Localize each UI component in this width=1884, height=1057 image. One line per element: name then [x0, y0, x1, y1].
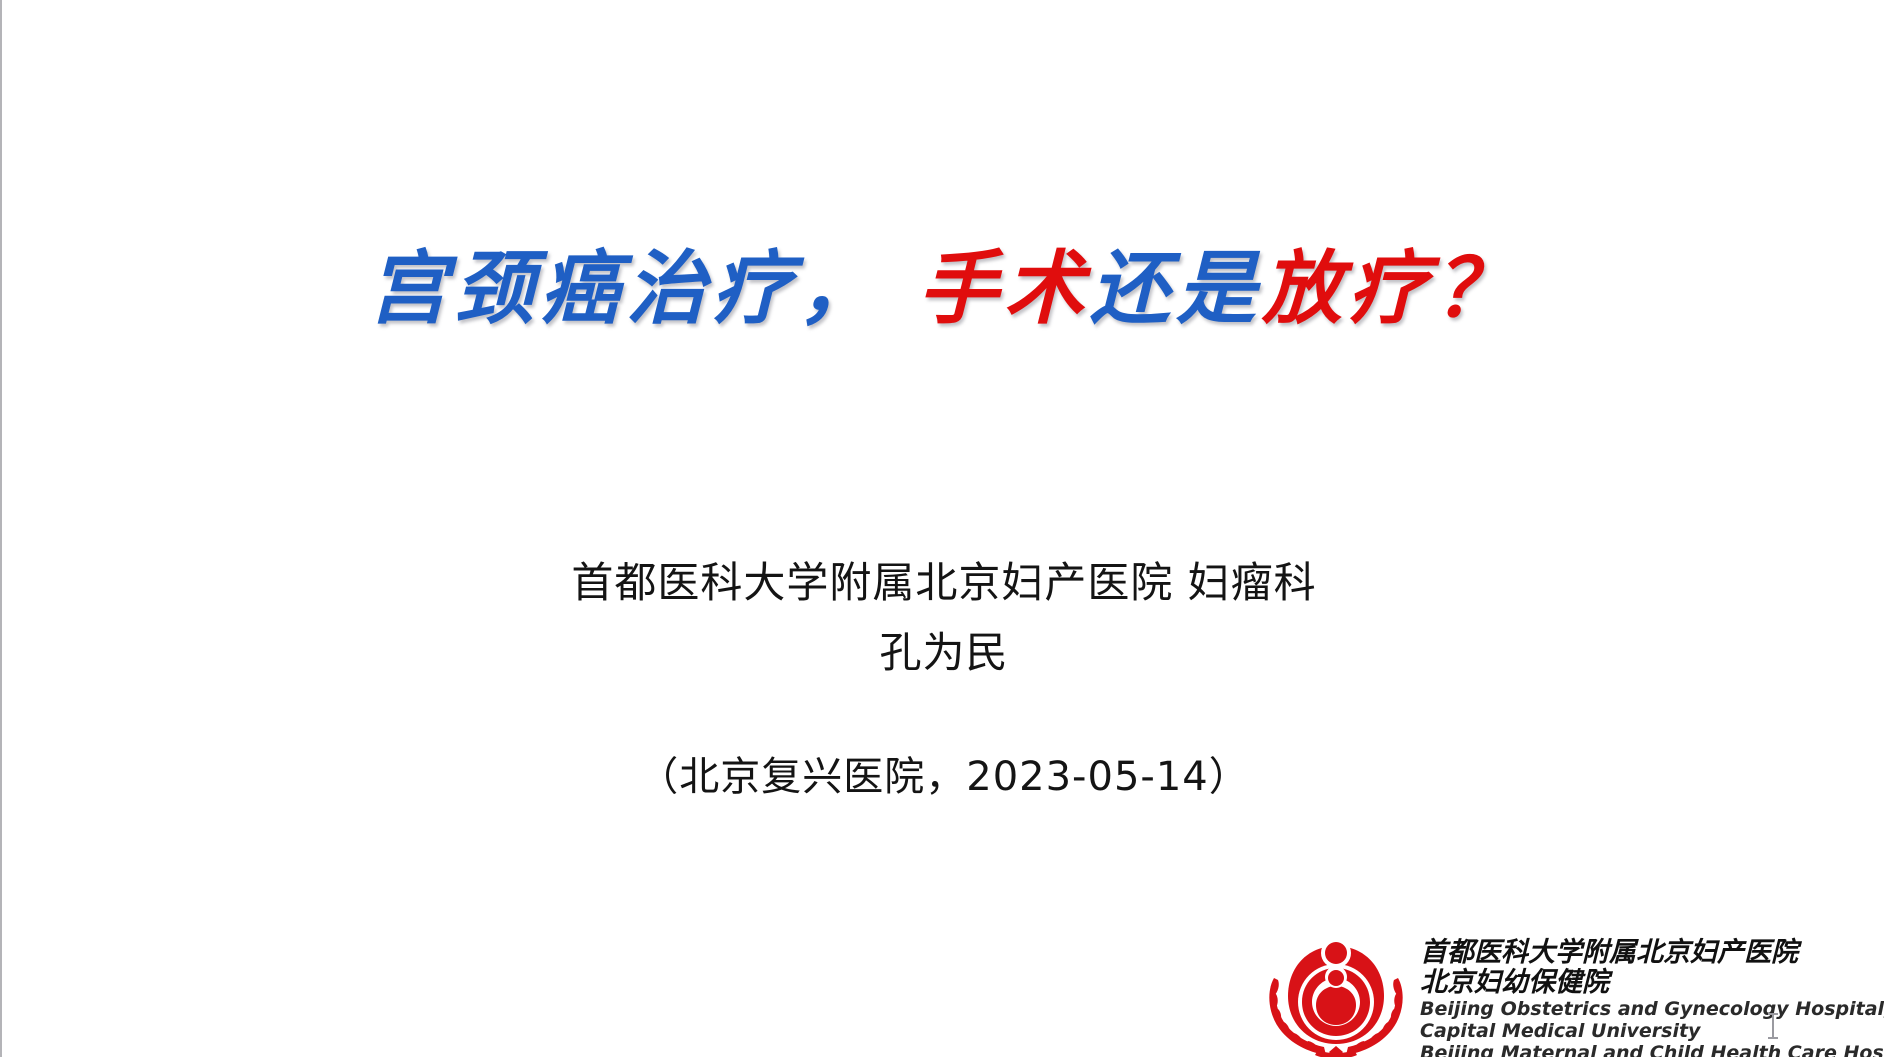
logo-english-line-2: Capital Medical University — [1420, 1020, 1884, 1042]
title-segment-3: 还是 — [1090, 241, 1262, 335]
slide-title: 宫颈癌治疗，手术还是放疗？ — [2, 248, 1884, 328]
affiliation-block: 首都医科大学附属北京妇产医院 妇瘤科 孔为民 — [2, 548, 1884, 688]
logo-english-line-3: Beijing Maternal and Child Health Care H… — [1420, 1042, 1884, 1057]
logo-chinese-line-1: 首都医科大学附属北京妇产医院 — [1420, 938, 1884, 968]
affiliation-department: 首都医科大学附属北京妇产医院 妇瘤科 — [2, 548, 1884, 618]
presenter-name: 孔为民 — [2, 618, 1884, 688]
logo-chinese-line-2: 北京妇幼保健院 — [1420, 968, 1884, 998]
hospital-logo: 首都医科大学附属北京妇产医院 北京妇幼保健院 Beijing Obstetric… — [1260, 928, 1884, 1057]
title-segment-4: 放疗？ — [1262, 241, 1520, 335]
beijing-obgyn-hospital-emblem-icon — [1260, 928, 1412, 1057]
venue-block: （北京复兴医院，2023-05-14） — [2, 744, 1884, 802]
logo-english-line-1: Beijing Obstetrics and Gynecology Hospit… — [1420, 998, 1884, 1020]
presentation-slide: 宫颈癌治疗，手术还是放疗？ 首都医科大学附属北京妇产医院 妇瘤科 孔为民 （北京… — [0, 0, 1884, 1057]
venue-and-date: （北京复兴医院，2023-05-14） — [2, 744, 1884, 802]
title-segment-2: 手术 — [918, 241, 1090, 335]
title-segment-1: 宫颈癌治疗， — [368, 241, 884, 335]
logo-text-block: 首都医科大学附属北京妇产医院 北京妇幼保健院 Beijing Obstetric… — [1412, 928, 1884, 1057]
